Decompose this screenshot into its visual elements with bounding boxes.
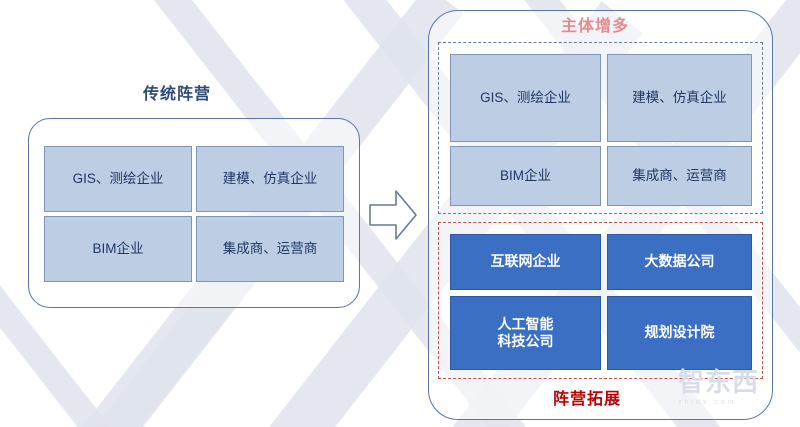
- diagram-canvas: 传统阵营 GIS、测绘企业 建模、仿真企业 BIM企业 集成商、运营商 主体增多…: [0, 0, 800, 427]
- right-cell-integrator-operator[interactable]: 集成商、运营商: [607, 146, 752, 206]
- right-block-arrow-icon: [368, 186, 418, 244]
- left-cell-modeling-simulation[interactable]: 建模、仿真企业: [196, 146, 344, 212]
- right-cell-bim[interactable]: BIM企业: [450, 146, 601, 206]
- right-panel-title-bottom: 阵营拓展: [553, 385, 621, 409]
- right-cell-planning-design-institute[interactable]: 规划设计院: [607, 296, 752, 370]
- right-cell-bigdata-company[interactable]: 大数据公司: [607, 234, 752, 290]
- left-cell-gis-surveying[interactable]: GIS、测绘企业: [44, 146, 192, 212]
- left-cell-integrator-operator[interactable]: 集成商、运营商: [196, 216, 344, 282]
- right-cell-ai-tech-company[interactable]: 人工智能 科技公司: [450, 296, 601, 370]
- right-cell-gis-surveying[interactable]: GIS、测绘企业: [450, 54, 601, 142]
- right-cell-modeling-simulation[interactable]: 建模、仿真企业: [607, 54, 752, 142]
- right-cell-internet-enterprise[interactable]: 互联网企业: [450, 234, 601, 290]
- left-panel-title: 传统阵营: [143, 80, 211, 104]
- left-cell-bim[interactable]: BIM企业: [44, 216, 192, 282]
